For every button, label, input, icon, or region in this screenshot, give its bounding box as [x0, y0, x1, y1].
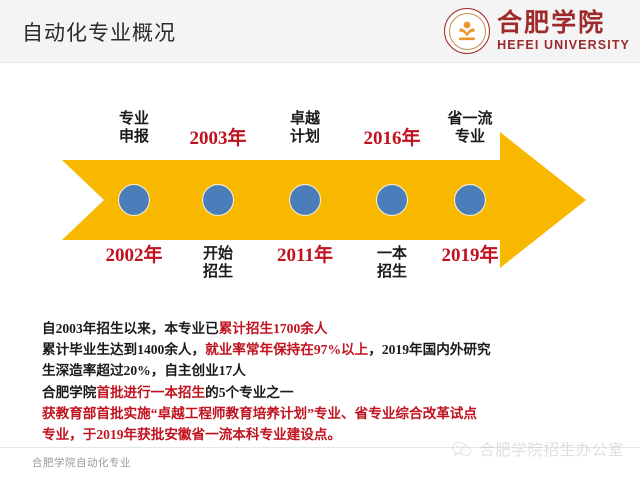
highlight-text: 首批进行一本招生 — [96, 385, 205, 400]
footer-caption: 合肥学院自动化专业 — [32, 455, 131, 470]
slide-header: 自动化专业概况 合肥学院 HEFEI UNIVERSITY — [0, 0, 640, 63]
body-line-2: 累计毕业生达到1400余人，就业率常年保持在97%以上，2019年国内外研究 — [42, 339, 628, 360]
plain-text: ，2019年国内外研究 — [368, 342, 490, 357]
body-line-4: 合肥学院首批进行一本招生的5个专业之一 — [42, 382, 628, 403]
wechat-icon — [452, 441, 472, 458]
timeline-label-5-above: 省一流专业 — [410, 110, 530, 145]
university-logo: 合肥学院 HEFEI UNIVERSITY — [444, 6, 630, 56]
highlight-text: 累计招生1700余人 — [219, 321, 328, 336]
plain-text: 合肥学院 — [42, 385, 96, 400]
logo-name-en: HEFEI UNIVERSITY — [497, 39, 630, 52]
highlight-text: 获教育部首批实施“卓越工程师教育培养计划”专业、省专业综合改革试点 — [42, 406, 477, 421]
seal-emblem-icon — [457, 20, 477, 42]
watermark: 合肥学院招生办公室 — [452, 438, 624, 460]
timeline-graphic: 专业申报2002年2003年开始招生卓越计划2011年2016年一本招生省一流专… — [0, 100, 640, 300]
plain-text: 累计毕业生达到1400余人， — [42, 342, 205, 357]
timeline-node-3 — [290, 185, 321, 216]
logo-name-cn: 合肥学院 — [497, 11, 630, 36]
timeline-node-1 — [119, 185, 150, 216]
body-line-1: 自2003年招生以来，本专业已累计招生1700余人 — [42, 318, 628, 339]
timeline-label-5-below: 2019年 — [410, 245, 530, 267]
highlight-text: 就业率常年保持在97%以上 — [205, 342, 368, 357]
plain-text: 的5个专业之一 — [205, 385, 293, 400]
logo-text-block: 合肥学院 HEFEI UNIVERSITY — [497, 11, 630, 52]
timeline-node-4 — [377, 185, 408, 216]
university-seal-icon — [444, 8, 490, 54]
timeline-node-2 — [203, 185, 234, 216]
watermark-text: 合肥学院招生办公室 — [479, 438, 624, 460]
page-title: 自动化专业概况 — [22, 17, 176, 47]
plain-text: 生深造率超过20%，自主创业17人 — [42, 363, 246, 378]
highlight-text: 专业，于2019年获批安徽省一流本科专业建设点。 — [42, 427, 341, 442]
timeline-node-5 — [455, 185, 486, 216]
plain-text: 自2003年招生以来，本专业已 — [42, 321, 219, 336]
body-paragraph: 自2003年招生以来，本专业已累计招生1700余人累计毕业生达到1400余人，就… — [42, 318, 628, 445]
body-line-5: 获教育部首批实施“卓越工程师教育培养计划”专业、省专业综合改革试点 — [42, 403, 628, 424]
body-line-3: 生深造率超过20%，自主创业17人 — [42, 360, 628, 381]
